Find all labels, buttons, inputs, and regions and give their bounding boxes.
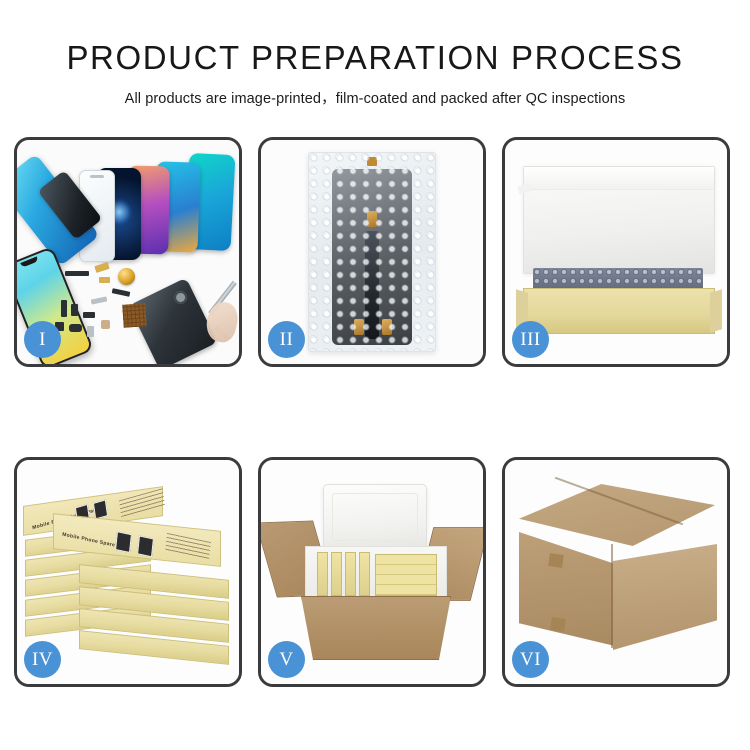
step-badge-4: IV (24, 641, 61, 678)
process-step-card-2: II (258, 137, 486, 367)
carton-tape-upper (548, 553, 564, 568)
step-badge-5: V (268, 641, 305, 678)
inner-box-upright-4 (359, 552, 370, 596)
lid-product-image-2 (93, 499, 108, 519)
carton-vertical-edge (611, 544, 613, 648)
carton-side-face (613, 544, 717, 650)
lid-product-image-4 (137, 535, 154, 557)
spare-part-antenna (83, 312, 95, 318)
lid-spec-text-lines-front (165, 533, 211, 560)
step-badge-2: II (268, 321, 305, 358)
connector-upper (367, 211, 377, 227)
white-box-lid (523, 166, 715, 274)
spare-part-bracket (61, 300, 67, 317)
carton-tape-lower (550, 617, 566, 632)
outer-carton-open (301, 596, 451, 660)
spare-part-cable (112, 288, 131, 297)
process-step-card-1: I (14, 137, 242, 367)
carton-front-face (519, 532, 615, 646)
inner-box-upright-1 (317, 552, 328, 596)
process-step-grid: I II I (14, 137, 730, 687)
spare-part-strip (65, 271, 89, 276)
carton-top-face (519, 484, 715, 546)
lid-spec-text-lines-upper (119, 488, 165, 518)
spare-part-speaker (69, 324, 82, 332)
process-step-card-4: Mobile Phone Spare Parts Mobile Phone Sp… (14, 457, 242, 687)
header: PRODUCT PREPARATION PROCESS All products… (0, 0, 750, 108)
product-preparation-infographic: PRODUCT PREPARATION PROCESS All products… (0, 0, 750, 750)
spare-part-button (101, 320, 110, 329)
process-step-card-6: VI (502, 457, 730, 687)
process-step-card-3: III (502, 137, 730, 367)
step-badge-3: III (512, 321, 549, 358)
spare-part-gold-clip (99, 277, 110, 283)
spare-part-metal-bar (91, 296, 108, 304)
spare-part-shield (71, 304, 78, 316)
step-badge-1: I (24, 321, 61, 358)
logic-board-chip (122, 303, 147, 328)
connector-lower-right (382, 319, 392, 335)
step-badge-6: VI (512, 641, 549, 678)
lid-product-image-3 (115, 531, 132, 553)
page-subtitle: All products are image-printed，film-coat… (0, 87, 750, 108)
inner-box-upright-3 (345, 552, 356, 596)
process-step-card-5: V (258, 457, 486, 687)
spare-part-gold-flex (94, 262, 109, 273)
vibration-motor-part (118, 268, 135, 285)
inner-box-group-flat (375, 554, 437, 596)
inner-box-upright-2 (331, 552, 342, 596)
flex-cable-strip (365, 231, 379, 339)
connector-lower-left (354, 319, 364, 335)
part-top-connector (367, 157, 377, 166)
spare-part-sim-tray (87, 326, 94, 337)
page-title: PRODUCT PREPARATION PROCESS (0, 40, 750, 76)
yellow-inner-box (523, 288, 715, 334)
bubble-wrap-bag (308, 152, 436, 352)
foam-box-lid (323, 484, 427, 550)
